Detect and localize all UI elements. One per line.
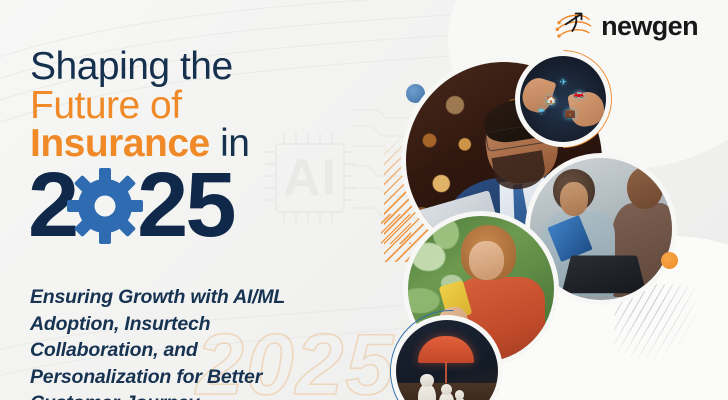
subtitle-line: Collaboration, and — [30, 337, 382, 364]
figure-head — [560, 182, 588, 216]
figurine-head — [455, 390, 464, 399]
briefcase-icon: 💼 — [565, 109, 576, 118]
gear-shape — [67, 168, 143, 244]
photo-umbrella-protecting-family-figurines — [396, 320, 498, 400]
accent-dot-orange — [661, 252, 678, 269]
marketing-banner: AI 2025 — [0, 0, 728, 400]
photo-hands-holding-insurance-icons: ✈ 🏠 🚗 ☂ 💼 — [520, 56, 606, 142]
subtitle-line: Adoption, Insurtech — [30, 311, 382, 338]
headline-line-2: Future of — [30, 87, 330, 126]
headline-line-1: Shaping the — [30, 48, 330, 87]
subtitle-line: Personalization for Better — [30, 364, 382, 391]
gear-icon — [67, 168, 143, 244]
year-digit-3: 2 — [137, 168, 185, 243]
laptop-device — [562, 255, 646, 292]
year-digit-4: 5 — [185, 168, 233, 243]
umbrella-icon: ☂ — [537, 108, 545, 117]
photo-collage: ✈ 🏠 🚗 ☂ 💼 — [378, 34, 728, 400]
figure-head — [469, 241, 504, 280]
headline-block: Shaping the Future of Insurance in — [30, 48, 330, 164]
umbrella-handle — [445, 361, 447, 383]
plane-icon: ✈ — [560, 78, 568, 87]
figure-head — [627, 167, 664, 210]
house-icon: 🏠 — [546, 96, 557, 105]
car-icon: 🚗 — [573, 89, 584, 98]
subtitle-line: Customer Journey — [30, 390, 382, 400]
figurine-head — [420, 374, 433, 387]
year-display: 2 2 — [28, 160, 234, 252]
subtitle-text: Ensuring Growth with AI/ML Adoption, Ins… — [30, 284, 382, 400]
subtitle-line: Ensuring Growth with AI/ML — [30, 284, 382, 311]
